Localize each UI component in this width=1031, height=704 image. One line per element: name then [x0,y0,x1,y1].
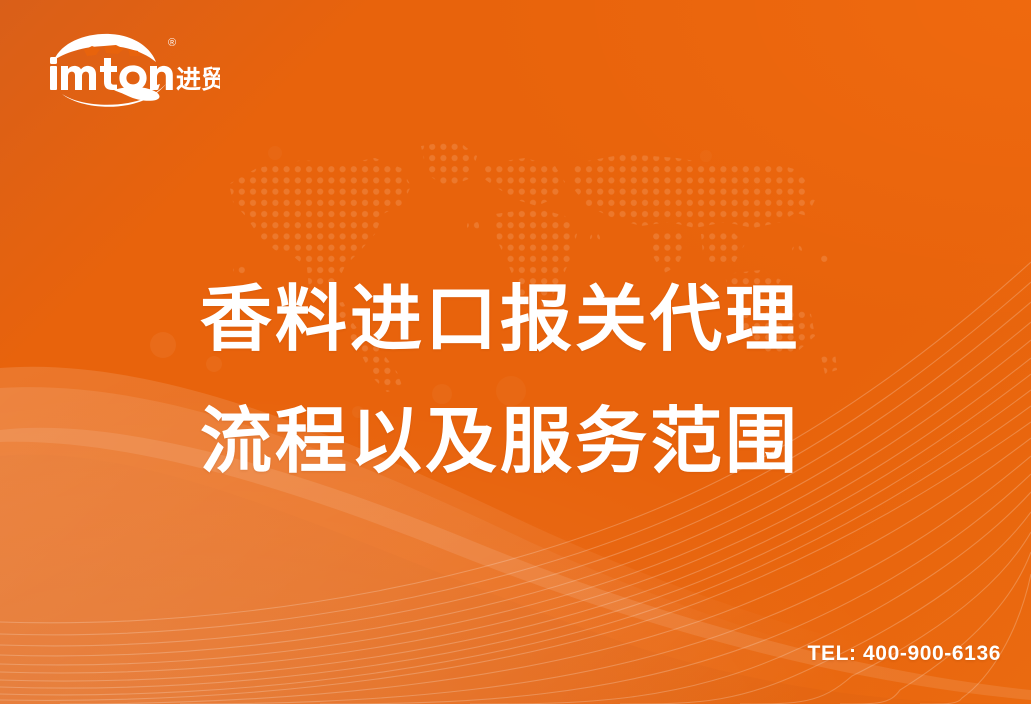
logo-trademark-symbol: ® [168,38,176,49]
globe-swoosh-logo-icon[interactable]: 进贸通 [40,32,220,108]
banner-canvas: 进贸通 ® 香料进口报关代理 流程以及服务范围 TEL: 400-900-613… [0,0,1031,704]
logo-chinese-name: 进贸通 [176,65,220,94]
page-title-line-1: 香料进口报关代理 [200,258,860,380]
page-title: 香料进口报关代理 流程以及服务范围 [200,258,860,502]
page-title-line-2: 流程以及服务范围 [200,380,860,502]
contact-phone[interactable]: TEL: 400-900-6136 [808,642,1001,666]
